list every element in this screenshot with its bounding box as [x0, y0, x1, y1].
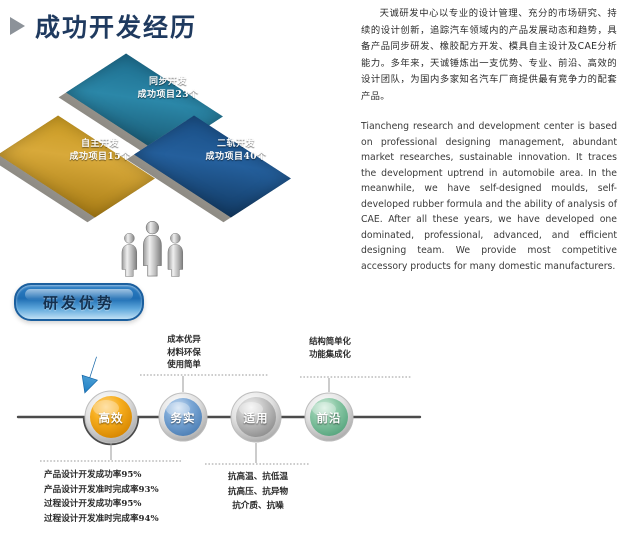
stat-line: 过程设计开发成功率95% — [44, 497, 159, 512]
stat-line: 产品设计开发准时完成率93% — [44, 483, 159, 498]
callout-line: 成本优异 — [150, 333, 218, 346]
development-blocks-diagram: 同步开发 成功项目23个 自主开发 成功项目15个 二轨开发 成功项目40个 — [10, 58, 340, 243]
node-suitable-circle — [231, 392, 281, 442]
list-resistance-properties: 抗高温、抗低温 抗高压、抗异物 抗介质、抗噪 — [208, 470, 308, 514]
callout-structure-advantages: 结构简单化 功能集成化 — [291, 335, 369, 360]
pill-title-text: 研发优势 — [43, 292, 115, 313]
description-panel: 天诚研发中心以专业的设计管理、充分的市场研究、持续的设计创新，追踪汽车领域内的产… — [361, 6, 617, 274]
callout-line: 使用简单 — [150, 358, 218, 371]
block-top-face — [134, 116, 291, 218]
triangle-right-icon — [10, 17, 25, 35]
advantages-pill-badge: 研发优势 — [14, 283, 144, 321]
description-chinese: 天诚研发中心以专业的设计管理、充分的市场研究、持续的设计创新，追踪汽车领域内的产… — [361, 6, 617, 105]
resistance-line: 抗高压、抗异物 — [208, 485, 308, 500]
stat-line: 产品设计开发成功率95% — [44, 468, 159, 483]
node-pragmatic-circle — [159, 393, 207, 441]
description-english: Tiancheng research and development cente… — [361, 119, 617, 274]
callout-line: 功能集成化 — [291, 348, 369, 361]
arrow-down-icon — [77, 354, 104, 395]
resistance-line: 抗高温、抗低温 — [208, 470, 308, 485]
resistance-line: 抗介质、抗噪 — [208, 499, 308, 514]
callout-line: 材料环保 — [150, 346, 218, 359]
rd-advantages-diagram: 高效 务实 适用 前沿 成本优异 材料环保 使用简单 结构简单化 功能集成化 产… — [0, 320, 626, 535]
page-title: 成功开发经历 — [10, 8, 197, 44]
section-title-text: 成功开发经历 — [35, 8, 197, 44]
stats-development-rates: 产品设计开发成功率95% 产品设计开发准时完成率93% 过程设计开发成功率95%… — [44, 468, 159, 526]
node-efficient-circle — [85, 391, 137, 443]
stat-line: 过程设计开发准时完成率94% — [44, 512, 159, 527]
node-frontier-circle — [305, 393, 353, 441]
callout-cost-advantages: 成本优异 材料环保 使用简单 — [150, 333, 218, 371]
callout-line: 结构简单化 — [291, 335, 369, 348]
team-people-icon — [118, 218, 196, 280]
